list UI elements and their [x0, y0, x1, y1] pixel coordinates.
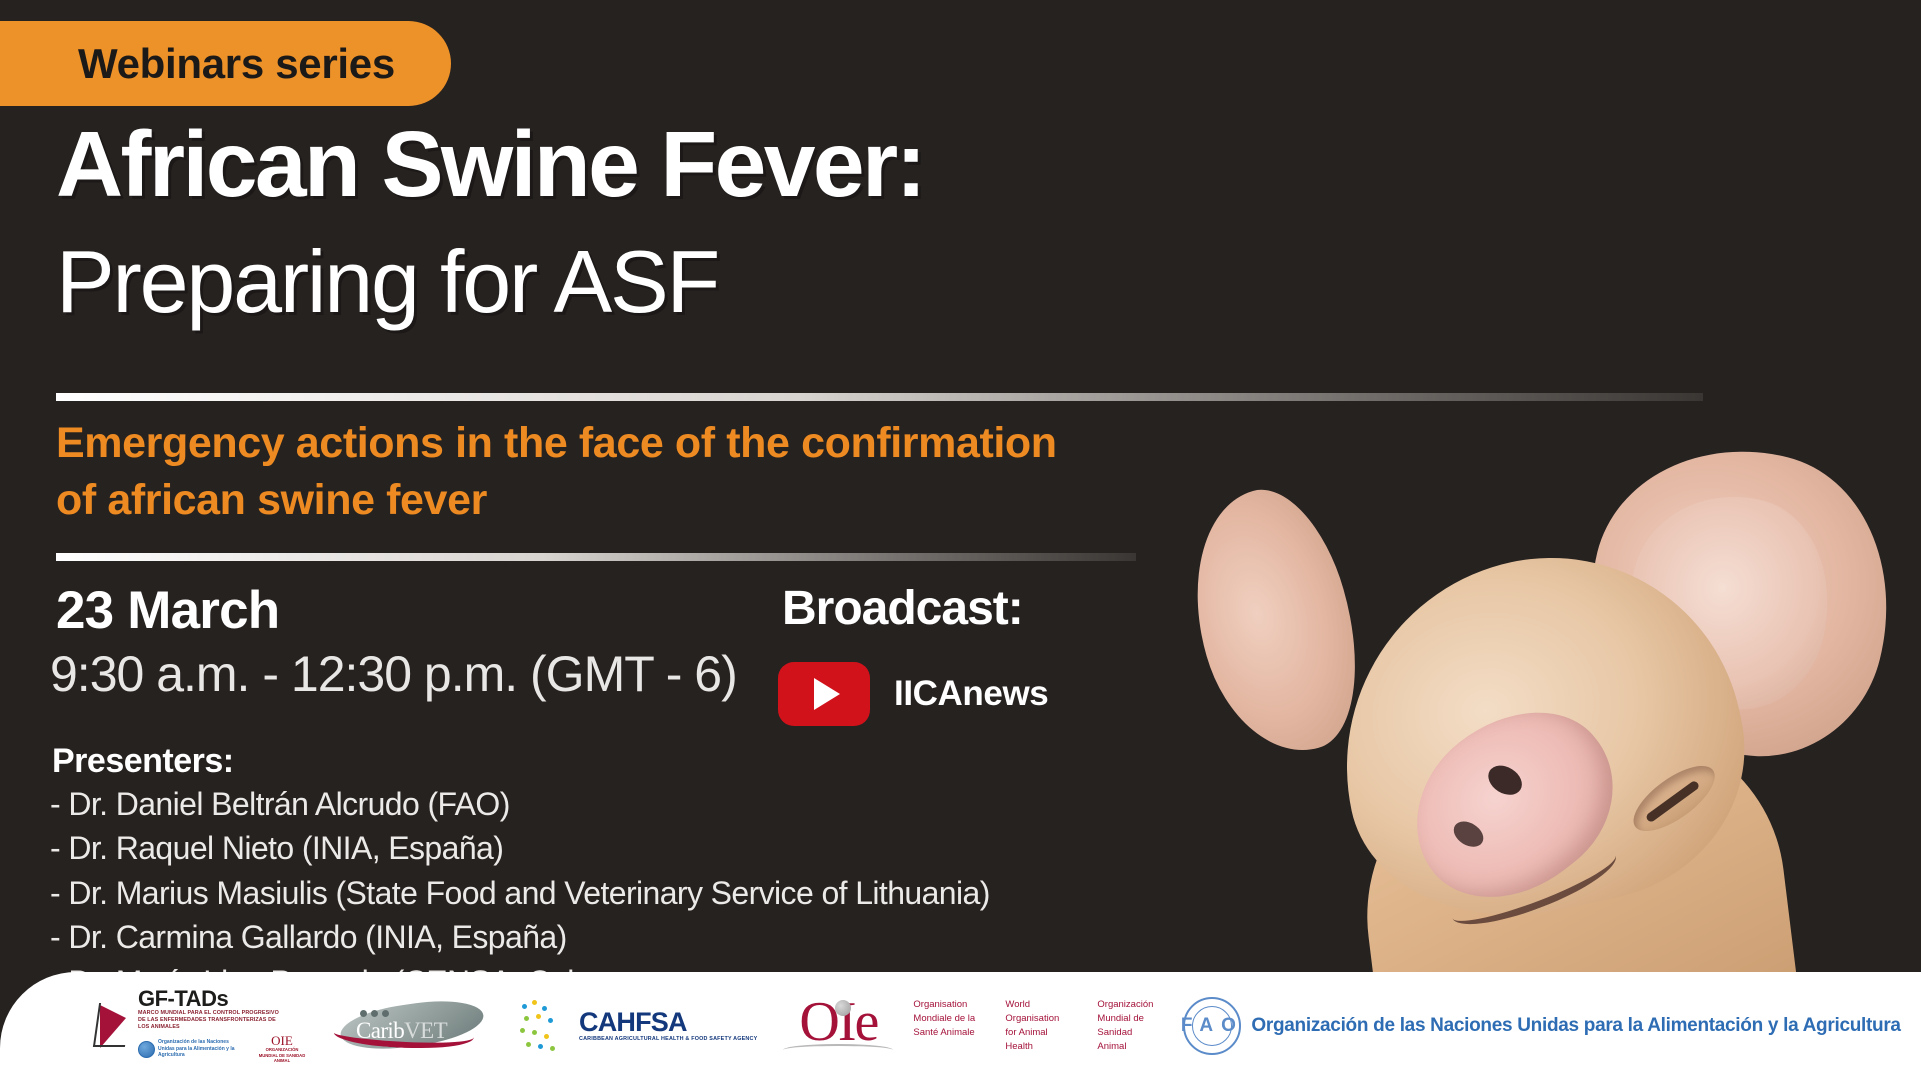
- caribvet-name-a: Carib: [356, 1018, 404, 1043]
- caribvet-name: CaribVET: [356, 1018, 447, 1044]
- oie-language-block: Organisation Mondiale de la Santé Animal…: [913, 998, 1163, 1055]
- globe-icon: [138, 1041, 155, 1058]
- broadcast-channel[interactable]: IICAnews: [778, 662, 1048, 726]
- divider-bottom: [56, 553, 1136, 561]
- youtube-play-icon[interactable]: [778, 662, 870, 726]
- logo-cahfsa: CAHFSA CARIBBEAN AGRICULTURAL HEALTH & F…: [518, 998, 757, 1054]
- gftads-oie-sub: ORGANIZACIÓN MUNDIAL DE SANIDAD ANIMAL: [256, 1047, 308, 1063]
- fao-mark-text: FAO: [1181, 1015, 1244, 1037]
- pig-head-photo: [1190, 430, 1920, 1030]
- logo-caribvet: CaribVET: [334, 996, 492, 1056]
- cahfsa-subtitle: CARIBBEAN AGRICULTURAL HEALTH & FOOD SAF…: [579, 1036, 757, 1043]
- oie-lang-fr: Organisation Mondiale de la Santé Animal…: [913, 998, 979, 1055]
- list-item: - Dr. Carmina Gallardo (INIA, España): [50, 915, 990, 959]
- logo-gf-tads: GF-TADs MARCO MUNDIAL PARA EL CONTROL PR…: [96, 988, 308, 1063]
- presenters-list: - Dr. Daniel Beltrán Alcrudo (FAO) - Dr.…: [50, 782, 990, 1004]
- logo-fao: FAO Organización de las Naciones Unidas …: [1183, 997, 1900, 1055]
- gftads-oie-name: OIE: [271, 1034, 293, 1047]
- page-subtitle: Emergency actions in the face of the con…: [56, 415, 1076, 529]
- gftads-fao-text: Organización de las Naciones Unidas para…: [158, 1039, 246, 1059]
- event-time: 9:30 a.m. - 12:30 p.m. (GMT - 6): [50, 645, 737, 703]
- pig-nostril-shape: [1449, 816, 1488, 852]
- list-item: - Dr. Daniel Beltrán Alcrudo (FAO): [50, 782, 990, 826]
- webinar-poster: Webinars series African Swine Fever: Pre…: [0, 0, 1921, 1080]
- partner-logo-bar: GF-TADs MARCO MUNDIAL PARA EL CONTROL PR…: [0, 972, 1921, 1080]
- oie-name: OIe: [799, 996, 877, 1049]
- caribvet-dots-icon: [360, 1010, 389, 1017]
- divider-top: [56, 393, 1703, 401]
- page-title-line2: Preparing for ASF: [56, 238, 718, 326]
- oie-lang-es: Organización Mundial de Sanidad Animal: [1097, 998, 1163, 1055]
- logo-oie: OIe: [783, 996, 893, 1055]
- gftads-subtitle: MARCO MUNDIAL PARA EL CONTROL PROGRESIVO…: [138, 1010, 288, 1031]
- fao-text: Organización de las Naciones Unidas para…: [1251, 1015, 1900, 1037]
- gftads-arrow-icon: [96, 1003, 132, 1049]
- gftads-name: GF-TADs: [138, 988, 308, 1010]
- broadcast-channel-name: IICAnews: [894, 674, 1048, 714]
- pig-nostril-shape: [1483, 760, 1527, 801]
- webinar-series-badge: Webinars series: [0, 21, 451, 106]
- broadcast-label: Broadcast:: [782, 581, 1023, 636]
- fao-seal-icon: FAO: [1183, 997, 1241, 1055]
- event-date: 23 March: [56, 580, 279, 641]
- badge-label: Webinars series: [78, 40, 395, 88]
- list-item: - Dr. Marius Masiulis (State Food and Ve…: [50, 871, 990, 915]
- play-triangle-icon: [814, 678, 840, 710]
- cahfsa-dots-icon: [518, 998, 574, 1054]
- presenters-heading: Presenters:: [52, 742, 234, 781]
- pig-eye-shape: [1624, 754, 1725, 843]
- caribvet-name-b: VET: [404, 1018, 447, 1043]
- cahfsa-name: CAHFSA: [579, 1009, 757, 1036]
- page-title-line1: African Swine Fever:: [56, 118, 924, 211]
- list-item: - Dr. Raquel Nieto (INIA, España): [50, 826, 990, 870]
- oie-lang-en: World Organisation for Animal Health: [1005, 998, 1071, 1055]
